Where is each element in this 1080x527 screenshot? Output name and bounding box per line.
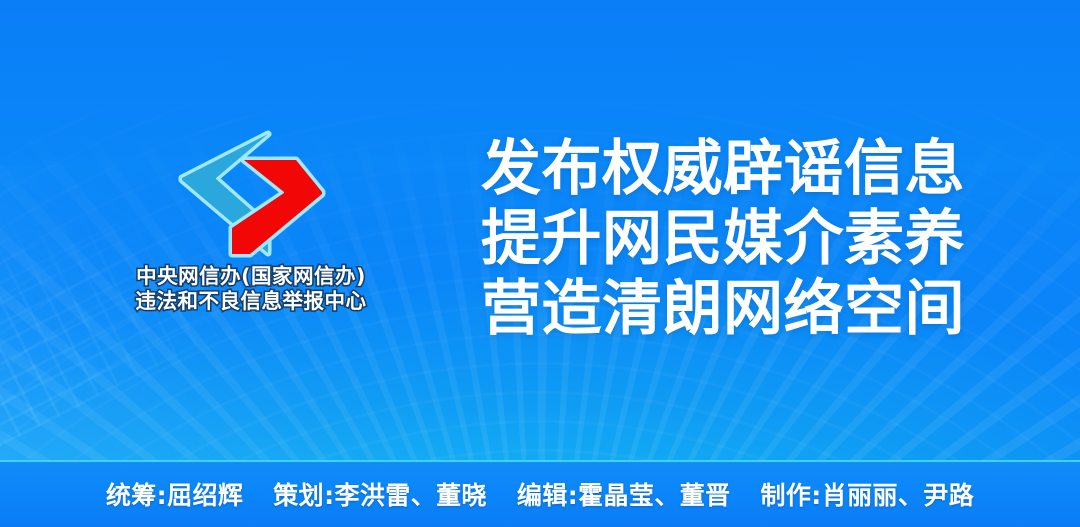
credit-producer: 制作:肖丽丽、尹路: [761, 476, 975, 512]
headline-slogan: 发布权威辟谣信息 提升网民媒介素养 营造清朗网络空间: [481, 134, 965, 344]
credits-row: 统筹:屈绍辉 策划:李洪雷、董晓 编辑:霍晶莹、董晋 制作:肖丽丽、尹路: [106, 476, 974, 514]
credit-editor: 编辑:霍晶莹、董晋: [517, 476, 731, 512]
headline-line-3: 营造清朗网络空间: [481, 274, 965, 344]
logo-caption-line-1: 中央网信办(国家网信办): [96, 264, 406, 289]
headline-line-1: 发布权威辟谣信息: [481, 134, 965, 204]
logo-block: 中央网信办(国家网信办) 违法和不良信息举报中心: [96, 130, 406, 314]
net-report-center-logo-icon: [176, 130, 326, 258]
headline-line-2: 提升网民媒介素养: [481, 204, 965, 274]
credits-bar: 统筹:屈绍辉 策划:李洪雷、董晓 编辑:霍晶莹、董晋 制作:肖丽丽、尹路: [0, 460, 1080, 527]
public-service-banner: 中央网信办(国家网信办) 违法和不良信息举报中心 发布权威辟谣信息 提升网民媒介…: [0, 0, 1080, 527]
credit-planner: 策划:李洪雷、董晓: [273, 476, 487, 512]
credit-coordinator: 统筹:屈绍辉: [106, 476, 243, 512]
logo-caption-line-2: 违法和不良信息举报中心: [96, 289, 406, 314]
